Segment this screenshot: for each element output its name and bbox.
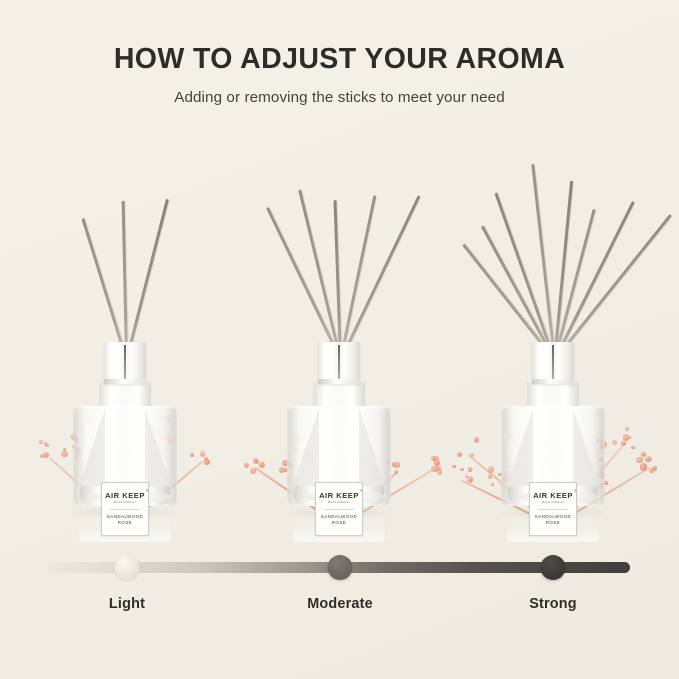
flower-bloom <box>631 446 635 450</box>
collar-seam <box>338 345 340 381</box>
page-title: HOW TO ADJUST YOUR AROMA <box>0 44 679 75</box>
flower-bloom <box>623 434 629 440</box>
reed-stick <box>125 199 169 361</box>
flower-bloom <box>244 463 250 469</box>
label-scent: SANDALWOODROSE <box>107 514 143 527</box>
infographic-canvas: HOW TO ADJUST YOUR AROMA Adding or remov… <box>0 0 679 679</box>
slider-knob-moderate[interactable] <box>328 555 353 580</box>
trademark-symbol: ® <box>574 490 577 493</box>
slider-label-moderate: Moderate <box>307 596 373 612</box>
reed-stick <box>122 201 128 360</box>
bottle-facet-right <box>573 408 603 498</box>
flower-bloom <box>636 457 642 463</box>
flower-bloom <box>470 453 474 457</box>
reed-arrangement-strong <box>446 150 660 360</box>
flower-bloom <box>431 456 436 461</box>
flower-bloom <box>475 438 478 441</box>
trademark-symbol: ® <box>146 490 149 493</box>
flower-bloom <box>190 453 194 457</box>
bottle-collar <box>104 342 146 384</box>
flower-bloom <box>44 442 47 445</box>
label-brand: AIR KEEP® <box>319 492 359 500</box>
flower-bloom <box>392 462 397 467</box>
label-divider <box>110 509 140 510</box>
flower-bloom <box>652 466 658 472</box>
slider-label-light: Light <box>109 596 145 612</box>
flower-bloom <box>61 451 68 458</box>
flower-bloom <box>200 451 206 457</box>
flower-bloom <box>40 454 44 458</box>
flower-bloom <box>468 467 473 472</box>
flower-bloom <box>39 440 43 444</box>
product-moderate: AIR KEEP® Reed Diffuser SANDALWOODROSE <box>232 150 446 520</box>
flower-bloom <box>253 458 258 463</box>
flower-bloom <box>649 468 654 473</box>
label-tagline: Reed Diffuser <box>114 501 136 504</box>
bottle-facet-right <box>359 408 389 498</box>
flower-bloom <box>250 468 256 474</box>
product-strong: AIR KEEP® Reed Diffuser SANDALWOODROSE <box>446 150 660 520</box>
flower-bloom <box>621 441 626 446</box>
slider-label-strong: Strong <box>529 596 577 612</box>
flower-bloom <box>641 452 646 457</box>
intensity-slider[interactable]: Light Moderate Strong <box>0 548 679 638</box>
flower-bloom <box>431 466 438 473</box>
flower-bloom <box>259 462 265 468</box>
flower-bloom <box>627 436 631 440</box>
flower-bloom <box>612 440 618 446</box>
diffuser-bottle-light: AIR KEEP® Reed Diffuser SANDALWOODROSE <box>73 342 177 520</box>
flower-bloom <box>43 452 49 458</box>
reed-arrangement-light <box>18 150 232 360</box>
bottle-body: AIR KEEP® Reed Diffuser SANDALWOODROSE <box>287 406 391 506</box>
reed-stick <box>81 218 127 360</box>
reed-stick <box>266 208 341 361</box>
flower-bloom <box>63 448 66 451</box>
flower-bloom <box>457 452 462 457</box>
flower-bloom <box>469 478 473 482</box>
flower-bloom <box>433 456 440 463</box>
label-divider <box>324 509 354 510</box>
collar-ring <box>532 379 574 384</box>
diffuser-bottle-strong: AIR KEEP® Reed Diffuser SANDALWOODROSE <box>501 342 605 520</box>
flower-bloom <box>204 457 208 461</box>
label-tagline: Reed Diffuser <box>542 501 564 504</box>
product-light: AIR KEEP® Reed Diffuser SANDALWOODROSE <box>18 150 232 520</box>
flower-bloom <box>465 475 468 478</box>
bottle-body: AIR KEEP® Reed Diffuser SANDALWOODROSE <box>73 406 177 506</box>
collar-seam <box>552 345 554 381</box>
bottle-collar <box>532 342 574 384</box>
flower-bloom <box>460 468 464 472</box>
label-scent: SANDALWOODROSE <box>535 514 571 527</box>
flower-bloom <box>394 462 399 467</box>
slider-knob-light[interactable] <box>115 555 140 580</box>
flower-bloom <box>645 457 651 463</box>
product-row: AIR KEEP® Reed Diffuser SANDALWOODROSE <box>0 150 679 520</box>
flower-bloom <box>436 466 441 471</box>
reed-stick <box>339 195 420 361</box>
label-divider <box>538 509 568 510</box>
bottle-body: AIR KEEP® Reed Diffuser SANDALWOODROSE <box>501 406 605 506</box>
flower-bloom <box>474 437 480 443</box>
flower-bloom <box>646 456 653 463</box>
flower-bloom <box>279 467 285 473</box>
product-label: AIR KEEP® Reed Diffuser SANDALWOODROSE <box>101 482 149 536</box>
collar-seam <box>124 345 126 381</box>
flower-bloom <box>433 457 436 460</box>
flower-bloom <box>467 476 474 483</box>
bottle-facet-right <box>145 408 175 498</box>
collar-ring <box>318 379 360 384</box>
slider-knob-strong[interactable] <box>541 555 566 580</box>
bottle-collar <box>318 342 360 384</box>
page-subtitle: Adding or removing the sticks to meet yo… <box>0 89 679 106</box>
diffuser-bottle-moderate: AIR KEEP® Reed Diffuser SANDALWOODROSE <box>287 342 391 520</box>
flower-bloom <box>640 463 646 469</box>
label-brand: AIR KEEP® <box>105 492 145 500</box>
collar-ring <box>104 379 146 384</box>
reed-arrangement-moderate <box>232 150 446 360</box>
flower-bloom <box>491 483 494 486</box>
product-label: AIR KEEP® Reed Diffuser SANDALWOODROSE <box>529 482 577 536</box>
flower-bloom <box>452 465 455 468</box>
product-label: AIR KEEP® Reed Diffuser SANDALWOODROSE <box>315 482 363 536</box>
reed-stick <box>553 180 573 360</box>
reed-stick <box>339 195 376 360</box>
flower-bloom <box>437 469 443 475</box>
flower-bloom <box>394 470 398 474</box>
flower-bloom <box>488 466 494 472</box>
flower-bloom <box>488 474 493 479</box>
reed-stick <box>481 226 556 361</box>
flower-bloom <box>45 444 49 448</box>
label-brand: AIR KEEP® <box>533 492 573 500</box>
trademark-symbol: ® <box>360 490 363 493</box>
flower-bloom <box>625 427 629 431</box>
flower-bloom <box>204 459 210 465</box>
header: HOW TO ADJUST YOUR AROMA Adding or remov… <box>0 44 679 106</box>
flower-bloom <box>254 460 258 464</box>
flower-bloom <box>434 460 440 466</box>
label-tagline: Reed Diffuser <box>328 501 350 504</box>
label-scent: SANDALWOODROSE <box>321 514 357 527</box>
flower-bloom <box>640 465 646 471</box>
